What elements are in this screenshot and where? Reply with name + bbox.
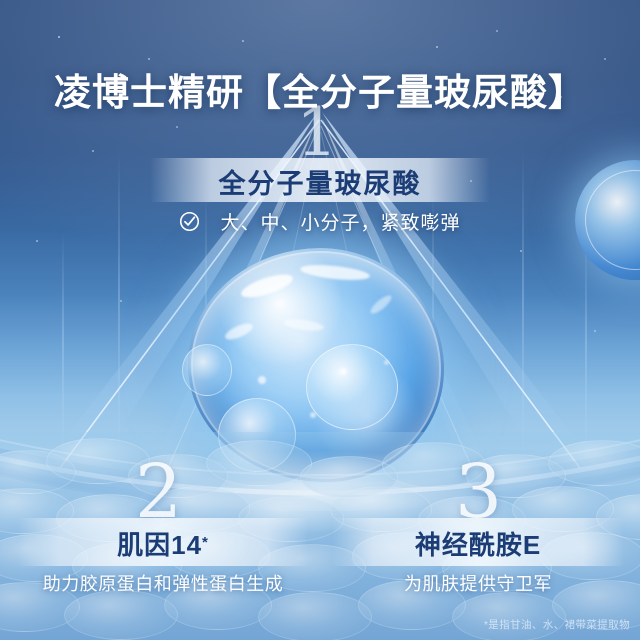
section-3-title: 神经酰胺E bbox=[332, 519, 624, 567]
light-column bbox=[522, 150, 524, 480]
footnote: *是指甘油、水、裙带菜提取物 bbox=[484, 617, 630, 632]
section-2-title: 肌因14* bbox=[18, 519, 308, 567]
check-circle-icon bbox=[179, 211, 200, 232]
section-1-bullet-text: 大、中、小分子，紧致嘭弹 bbox=[220, 208, 460, 235]
product-infographic: 1 2 3 凌博士精研【全分子量玻尿酸】 全分子量玻尿酸 大、中、小分子，紧致嘭… bbox=[0, 0, 640, 640]
light-column bbox=[118, 150, 120, 480]
section-3-title-text: 神经酰胺E bbox=[415, 525, 541, 562]
section-1-title: 全分子量玻尿酸 bbox=[150, 159, 490, 203]
section-2-subtitle: 助力胶原蛋白和弹性蛋白生成 bbox=[18, 570, 308, 596]
section-1-bullet-row: 大、中、小分子，紧致嘭弹 bbox=[0, 208, 640, 235]
page-title: 凌博士精研【全分子量玻尿酸】 bbox=[0, 62, 640, 116]
section-3-subtitle: 为肌肤提供守卫军 bbox=[332, 570, 624, 596]
section-2-title-text: 肌因14 bbox=[117, 525, 202, 562]
